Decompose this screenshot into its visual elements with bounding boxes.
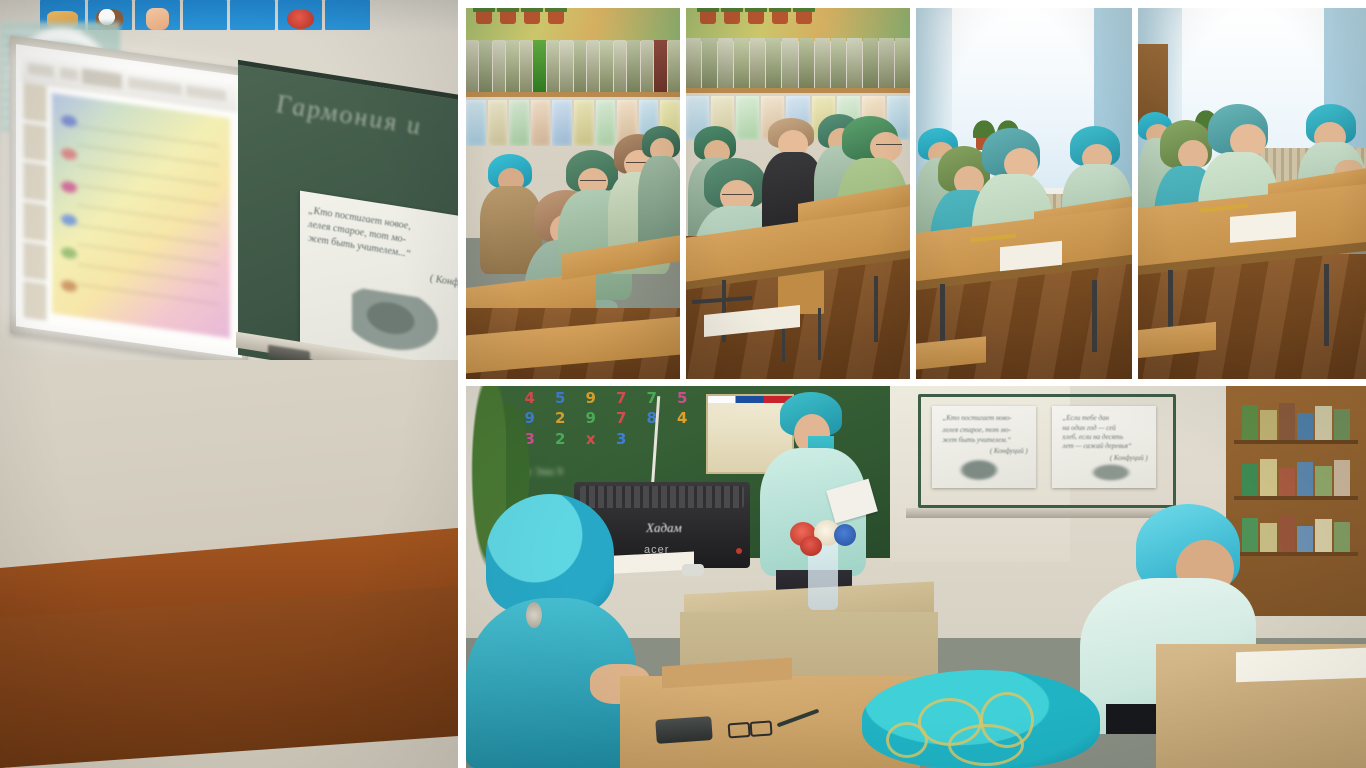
quote-poster-right: „Если тебе дан на один год — сей хлеб, е… bbox=[1052, 406, 1156, 488]
panel-audience-2b[interactable] bbox=[916, 8, 1132, 379]
earring bbox=[526, 602, 542, 628]
panel-audience-3[interactable] bbox=[1138, 8, 1366, 379]
poster-right-line-2: на один год — сей bbox=[1062, 424, 1147, 433]
projected-screen bbox=[22, 55, 238, 349]
poster-sketch bbox=[1087, 462, 1135, 483]
foreground-woman-left bbox=[466, 494, 636, 768]
poster-right-line-3: хлеб, если на десять bbox=[1062, 433, 1147, 442]
flower-red bbox=[800, 536, 822, 556]
eyeglasses bbox=[728, 721, 771, 736]
poster-left-line-3: жет быть учителем.“ bbox=[942, 436, 1027, 445]
poster-right-line-4: лет — сажай деревья“ bbox=[1062, 442, 1147, 451]
panel-presenter[interactable]: 4 5 9 7 7 5 9 2 9 7 8 4 3 2 х 3 у 3ма 9 bbox=[466, 386, 1366, 768]
binder-shelf bbox=[466, 40, 680, 92]
poster-left-author: ( Конфуций ) bbox=[942, 447, 1027, 456]
desk-leg bbox=[1324, 264, 1329, 346]
poster-left-line-2: лелея старое, тот мо- bbox=[942, 426, 1027, 435]
photo-collage: Гармония и „Кто постигает новое, лелея с… bbox=[0, 0, 1366, 768]
panel-audience-1[interactable] bbox=[466, 8, 680, 379]
shelf-plants bbox=[700, 10, 812, 24]
shelf-board bbox=[686, 88, 910, 93]
right-desk-paper bbox=[1236, 648, 1366, 683]
desk-leg bbox=[1092, 280, 1097, 352]
books-row bbox=[1242, 400, 1350, 440]
poster-right-line-1: „Если тебе дан bbox=[1062, 414, 1147, 423]
shelf-board bbox=[466, 92, 680, 97]
poster-left-line-1: „Кто постигает ново- bbox=[942, 414, 1027, 423]
desk-leg bbox=[874, 276, 878, 342]
flower-blue bbox=[834, 524, 856, 546]
chalkboard-text: Гармония и bbox=[276, 89, 456, 154]
table-object bbox=[682, 564, 704, 576]
slide-thumbnail-pane[interactable] bbox=[24, 83, 46, 320]
poster-sketch bbox=[955, 457, 1003, 483]
scarf-pattern bbox=[886, 722, 928, 758]
binder-shelf bbox=[686, 38, 910, 88]
chair-leg bbox=[818, 308, 821, 360]
presentation-slide bbox=[52, 93, 230, 338]
quote-author: ( Конфуций ) bbox=[430, 273, 458, 293]
shelf-plants bbox=[476, 10, 564, 24]
wood-floor bbox=[0, 586, 458, 768]
panel-audience-2[interactable] bbox=[686, 8, 910, 379]
interactive-whiteboard[interactable] bbox=[10, 35, 248, 366]
scarf-pattern bbox=[948, 724, 1024, 766]
magnet-numbers: 4 5 9 7 7 5 9 2 9 7 8 4 3 2 х 3 bbox=[516, 390, 696, 448]
quote-portrait-sketch bbox=[352, 287, 438, 357]
power-led bbox=[736, 548, 742, 554]
books-row bbox=[1242, 456, 1350, 496]
laptop-handwritten-label: Хадам bbox=[646, 520, 682, 536]
quote-poster-left: „Кто постигает ново- лелея старое, тот м… bbox=[932, 406, 1036, 488]
patterned-headscarf bbox=[862, 670, 1100, 768]
panel-classroom-board[interactable]: Гармония и „Кто постигает новое, лелея с… bbox=[0, 0, 458, 768]
smartphone[interactable] bbox=[655, 716, 713, 744]
